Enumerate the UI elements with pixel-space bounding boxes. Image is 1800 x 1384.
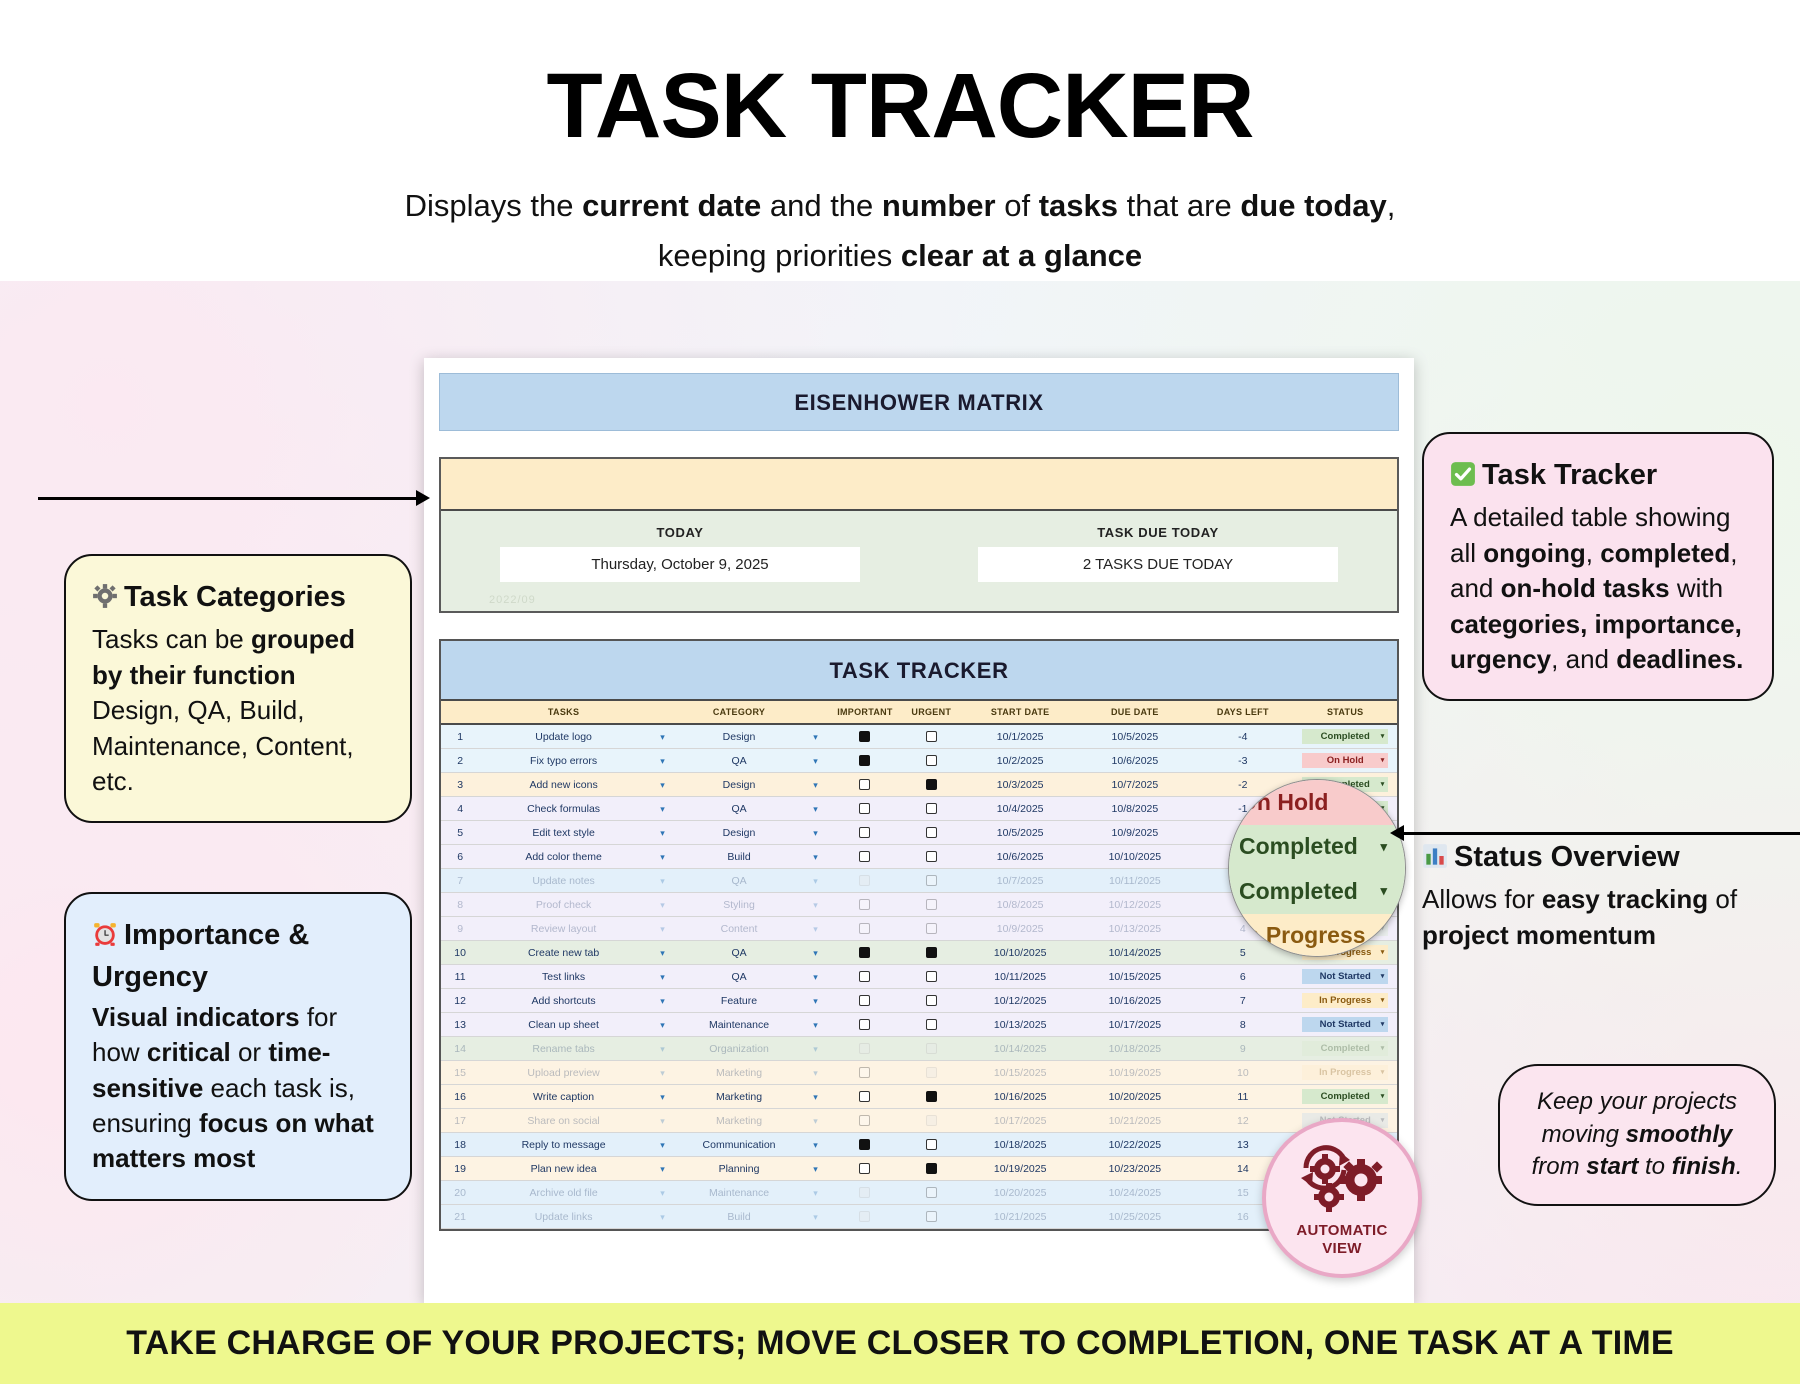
chevron-down-icon[interactable]: ▾: [648, 1205, 677, 1229]
cell-category[interactable]: Design: [677, 724, 801, 749]
cell-start-date[interactable]: 10/13/2025: [963, 1013, 1078, 1037]
chevron-down-icon[interactable]: ▾: [801, 1013, 830, 1037]
cell-status[interactable]: Completed▾: [1293, 1037, 1397, 1061]
cell-status[interactable]: In Progress▾: [1293, 1061, 1397, 1085]
cell-days-left[interactable]: 7: [1192, 989, 1293, 1013]
cell-index[interactable]: 8: [441, 893, 479, 917]
checkbox-off[interactable]: [859, 1019, 870, 1030]
cell-urgent[interactable]: [900, 773, 963, 797]
cell-category[interactable]: Marketing: [677, 1109, 801, 1133]
column-header-start-date[interactable]: START DATE: [963, 701, 1078, 724]
chevron-down-icon[interactable]: ▾: [801, 821, 830, 845]
cell-task[interactable]: Review layout: [479, 917, 648, 941]
chevron-down-icon[interactable]: ▾: [801, 989, 830, 1013]
cell-task[interactable]: Write caption: [479, 1085, 648, 1109]
cell-status[interactable]: In Progress▾: [1293, 989, 1397, 1013]
cell-important[interactable]: [830, 1133, 900, 1157]
cell-due-date[interactable]: 10/7/2025: [1078, 773, 1193, 797]
cell-index[interactable]: 14: [441, 1037, 479, 1061]
cell-due-date[interactable]: 10/10/2025: [1078, 845, 1193, 869]
status-badge[interactable]: Not Started▾: [1302, 1017, 1388, 1032]
cell-urgent[interactable]: [900, 1157, 963, 1181]
chevron-down-icon[interactable]: ▾: [648, 1085, 677, 1109]
checkbox-off[interactable]: [926, 899, 937, 910]
table-row[interactable]: 20Archive old file▾Maintenance▾10/20/202…: [441, 1181, 1397, 1205]
chevron-down-icon[interactable]: ▾: [648, 797, 677, 821]
cell-index[interactable]: 21: [441, 1205, 479, 1229]
cell-urgent[interactable]: [900, 989, 963, 1013]
cell-index[interactable]: 13: [441, 1013, 479, 1037]
checkbox-off[interactable]: [859, 995, 870, 1006]
cell-due-date[interactable]: 10/24/2025: [1078, 1181, 1193, 1205]
chevron-down-icon[interactable]: ▾: [801, 1037, 830, 1061]
table-row[interactable]: 21Update links▾Build▾10/21/202510/25/202…: [441, 1205, 1397, 1229]
cell-category[interactable]: Maintenance: [677, 1181, 801, 1205]
cell-start-date[interactable]: 10/15/2025: [963, 1061, 1078, 1085]
table-row[interactable]: 15Upload preview▾Marketing▾10/15/202510/…: [441, 1061, 1397, 1085]
checkbox-on[interactable]: [926, 779, 937, 790]
cell-category[interactable]: Feature: [677, 989, 801, 1013]
cell-urgent[interactable]: [900, 1133, 963, 1157]
table-row[interactable]: 1Update logo▾Design▾10/1/202510/5/2025-4…: [441, 724, 1397, 749]
cell-category[interactable]: QA: [677, 965, 801, 989]
cell-task[interactable]: Add new icons: [479, 773, 648, 797]
column-header-important[interactable]: IMPORTANT: [830, 701, 900, 724]
cell-start-date[interactable]: 10/14/2025: [963, 1037, 1078, 1061]
chevron-down-icon[interactable]: ▾: [801, 773, 830, 797]
checkbox-on[interactable]: [859, 1139, 870, 1150]
chevron-down-icon[interactable]: ▾: [801, 1133, 830, 1157]
cell-urgent[interactable]: [900, 917, 963, 941]
checkbox-off[interactable]: [926, 851, 937, 862]
cell-important[interactable]: [830, 1061, 900, 1085]
arrow-to-summary-line: [38, 497, 418, 500]
cell-start-date[interactable]: 10/18/2025: [963, 1133, 1078, 1157]
chevron-down-icon[interactable]: ▾: [648, 1013, 677, 1037]
cell-urgent[interactable]: [900, 1181, 963, 1205]
column-header-blank-4[interactable]: [801, 701, 830, 724]
chevron-down-icon: ▾: [1380, 794, 1387, 810]
summary-panel: TODAY Thursday, October 9, 2025 TASK DUE…: [439, 457, 1399, 613]
checkbox-off[interactable]: [926, 1187, 937, 1198]
cell-index[interactable]: 18: [441, 1133, 479, 1157]
chevron-down-icon[interactable]: ▾: [648, 965, 677, 989]
cell-due-date[interactable]: 10/11/2025: [1078, 869, 1193, 893]
chevron-down-icon[interactable]: ▾: [648, 1157, 677, 1181]
checkbox-off[interactable]: [926, 923, 937, 934]
checkbox-off[interactable]: [926, 755, 937, 766]
chevron-down-icon[interactable]: ▾: [1381, 732, 1385, 740]
cell-urgent[interactable]: [900, 941, 963, 965]
cell-index[interactable]: 7: [441, 869, 479, 893]
cell-start-date[interactable]: 10/7/2025: [963, 869, 1078, 893]
cell-important[interactable]: [830, 893, 900, 917]
cell-start-date[interactable]: 10/17/2025: [963, 1109, 1078, 1133]
column-header-due-date[interactable]: DUE DATE: [1078, 701, 1193, 724]
cell-status[interactable]: Not Started▾: [1293, 965, 1397, 989]
checkbox-ghost[interactable]: [859, 875, 870, 886]
cell-index[interactable]: 16: [441, 1085, 479, 1109]
status-badge[interactable]: In Progress▾: [1302, 1065, 1388, 1080]
cell-index[interactable]: 6: [441, 845, 479, 869]
checkbox-on[interactable]: [859, 731, 870, 742]
cell-index[interactable]: 1: [441, 724, 479, 749]
cell-urgent[interactable]: [900, 1013, 963, 1037]
cell-due-date[interactable]: 10/19/2025: [1078, 1061, 1193, 1085]
cell-category[interactable]: Design: [677, 821, 801, 845]
cell-task[interactable]: Check formulas: [479, 797, 648, 821]
checkbox-off[interactable]: [859, 1115, 870, 1126]
cell-task[interactable]: Clean up sheet: [479, 1013, 648, 1037]
chevron-down-icon[interactable]: ▾: [648, 1133, 677, 1157]
cell-start-date[interactable]: 10/19/2025: [963, 1157, 1078, 1181]
cell-category[interactable]: Planning: [677, 1157, 801, 1181]
chevron-down-icon[interactable]: ▾: [648, 1109, 677, 1133]
cell-important[interactable]: [830, 1037, 900, 1061]
cell-important[interactable]: [830, 941, 900, 965]
chevron-down-icon[interactable]: ▾: [801, 941, 830, 965]
cell-task[interactable]: Plan new idea: [479, 1157, 648, 1181]
chevron-down-icon[interactable]: ▾: [801, 845, 830, 869]
cell-days-left[interactable]: 10: [1192, 1061, 1293, 1085]
chevron-down-icon[interactable]: ▾: [801, 797, 830, 821]
cell-urgent[interactable]: [900, 1085, 963, 1109]
cell-category[interactable]: Maintenance: [677, 1013, 801, 1037]
cell-category[interactable]: Marketing: [677, 1061, 801, 1085]
checkbox-ghost[interactable]: [926, 1067, 937, 1078]
status-badge[interactable]: Completed▾: [1302, 729, 1388, 744]
table-row[interactable]: 2Fix typo errors▾QA▾10/2/202510/6/2025-3…: [441, 749, 1397, 773]
cell-due-date[interactable]: 10/12/2025: [1078, 893, 1193, 917]
column-header-blank-0[interactable]: [441, 701, 479, 724]
cell-index[interactable]: 10: [441, 941, 479, 965]
cell-due-date[interactable]: 10/15/2025: [1078, 965, 1193, 989]
cell-status[interactable]: Not Started▾: [1293, 1013, 1397, 1037]
checkbox-off[interactable]: [859, 923, 870, 934]
cell-task[interactable]: Archive old file: [479, 1181, 648, 1205]
chevron-down-icon[interactable]: ▾: [801, 1181, 830, 1205]
checkbox-off[interactable]: [926, 1211, 937, 1222]
cell-important[interactable]: [830, 1157, 900, 1181]
chevron-down-icon[interactable]: ▾: [648, 893, 677, 917]
table-row[interactable]: 16Write caption▾Marketing▾10/16/202510/2…: [441, 1085, 1397, 1109]
cell-important[interactable]: [830, 797, 900, 821]
chevron-down-icon[interactable]: ▾: [801, 893, 830, 917]
cell-important[interactable]: [830, 773, 900, 797]
column-header-category[interactable]: CATEGORY: [677, 701, 801, 724]
cell-index[interactable]: 2: [441, 749, 479, 773]
checkbox-ghost[interactable]: [859, 1043, 870, 1054]
chevron-down-icon[interactable]: ▾: [648, 1037, 677, 1061]
chevron-down-icon[interactable]: ▾: [648, 1181, 677, 1205]
cell-task[interactable]: Add shortcuts: [479, 989, 648, 1013]
cell-urgent[interactable]: [900, 724, 963, 749]
chevron-down-icon[interactable]: ▾: [1381, 1068, 1385, 1076]
chevron-down-icon[interactable]: ▾: [648, 917, 677, 941]
status-badge[interactable]: On Hold▾: [1302, 753, 1388, 768]
column-header-urgent[interactable]: URGENT: [900, 701, 963, 724]
table-row[interactable]: 19Plan new idea▾Planning▾10/19/202510/23…: [441, 1157, 1397, 1181]
cell-start-date[interactable]: 10/11/2025: [963, 965, 1078, 989]
eisenhower-matrix-banner: EISENHOWER MATRIX: [439, 373, 1399, 431]
cell-category[interactable]: Communication: [677, 1133, 801, 1157]
cell-urgent[interactable]: [900, 965, 963, 989]
cell-due-date[interactable]: 10/13/2025: [1078, 917, 1193, 941]
due-today-value: 2 TASKS DUE TODAY: [978, 547, 1338, 582]
cell-start-date[interactable]: 10/10/2025: [963, 941, 1078, 965]
checkbox-on[interactable]: [926, 1091, 937, 1102]
cell-index[interactable]: 19: [441, 1157, 479, 1181]
cell-index[interactable]: 17: [441, 1109, 479, 1133]
checkbox-off[interactable]: [926, 731, 937, 742]
checkbox-off[interactable]: [926, 827, 937, 838]
cell-category[interactable]: Content: [677, 917, 801, 941]
cell-task[interactable]: Proof check: [479, 893, 648, 917]
checkbox-off[interactable]: [859, 971, 870, 982]
checkbox-off[interactable]: [859, 827, 870, 838]
cell-category[interactable]: Marketing: [677, 1085, 801, 1109]
checkbox-off[interactable]: [859, 1067, 870, 1078]
cell-due-date[interactable]: 10/25/2025: [1078, 1205, 1193, 1229]
cell-index[interactable]: 20: [441, 1181, 479, 1205]
cell-category[interactable]: Build: [677, 1205, 801, 1229]
checkbox-ghost[interactable]: [926, 1115, 937, 1126]
checkbox-ghost[interactable]: [859, 1187, 870, 1198]
cell-urgent[interactable]: [900, 749, 963, 773]
checkbox-off[interactable]: [859, 1163, 870, 1174]
checkbox-off[interactable]: [926, 971, 937, 982]
chevron-down-icon[interactable]: ▾: [801, 1205, 830, 1229]
cell-due-date[interactable]: 10/23/2025: [1078, 1157, 1193, 1181]
cell-task[interactable]: Test links: [479, 965, 648, 989]
cell-index[interactable]: 12: [441, 989, 479, 1013]
cell-start-date[interactable]: 10/1/2025: [963, 724, 1078, 749]
status-badge[interactable]: Completed▾: [1302, 1041, 1388, 1056]
chevron-down-icon: ▾: [1380, 928, 1387, 944]
chevron-down-icon[interactable]: ▾: [801, 965, 830, 989]
cell-category[interactable]: QA: [677, 749, 801, 773]
cell-days-left[interactable]: 8: [1192, 1013, 1293, 1037]
chevron-down-icon[interactable]: ▾: [801, 1085, 830, 1109]
cell-urgent[interactable]: [900, 845, 963, 869]
cell-start-date[interactable]: 10/9/2025: [963, 917, 1078, 941]
page-title: TASK TRACKER: [0, 58, 1800, 155]
chevron-down-icon[interactable]: ▾: [801, 917, 830, 941]
cell-status[interactable]: Completed▾: [1293, 1085, 1397, 1109]
cell-days-left[interactable]: 6: [1192, 965, 1293, 989]
cell-urgent[interactable]: [900, 1061, 963, 1085]
cell-due-date[interactable]: 10/20/2025: [1078, 1085, 1193, 1109]
cell-category[interactable]: Design: [677, 773, 801, 797]
table-header-row: TASKSCATEGORYIMPORTANTURGENTSTART DATEDU…: [441, 701, 1397, 724]
cell-due-date[interactable]: 10/6/2025: [1078, 749, 1193, 773]
cell-important[interactable]: [830, 1085, 900, 1109]
chevron-down-icon[interactable]: ▾: [801, 1157, 830, 1181]
chevron-down-icon[interactable]: ▾: [648, 773, 677, 797]
cell-start-date[interactable]: 10/20/2025: [963, 1181, 1078, 1205]
chevron-down-icon[interactable]: ▾: [648, 845, 677, 869]
chevron-down-icon[interactable]: ▾: [801, 869, 830, 893]
chevron-down-icon[interactable]: ▾: [648, 1061, 677, 1085]
chevron-down-icon[interactable]: ▾: [801, 749, 830, 773]
chevron-down-icon[interactable]: ▾: [1381, 972, 1385, 980]
cell-start-date[interactable]: 10/16/2025: [963, 1085, 1078, 1109]
cell-category[interactable]: Build: [677, 845, 801, 869]
cell-task[interactable]: Share on social: [479, 1109, 648, 1133]
cell-index[interactable]: 15: [441, 1061, 479, 1085]
checkbox-off[interactable]: [859, 1091, 870, 1102]
cell-due-date[interactable]: 10/5/2025: [1078, 724, 1193, 749]
cell-due-date[interactable]: 10/17/2025: [1078, 1013, 1193, 1037]
cell-category[interactable]: Organization: [677, 1037, 801, 1061]
chevron-down-icon[interactable]: ▾: [1381, 1044, 1385, 1052]
cell-start-date[interactable]: 10/8/2025: [963, 893, 1078, 917]
callout-importance-urgency: Importance & Urgency Visual indicators f…: [64, 892, 412, 1201]
cell-category[interactable]: Styling: [677, 893, 801, 917]
chevron-down-icon: ▾: [1380, 839, 1387, 855]
cell-due-date[interactable]: 10/16/2025: [1078, 989, 1193, 1013]
column-header-blank-2[interactable]: [648, 701, 677, 724]
cell-urgent[interactable]: [900, 869, 963, 893]
cell-due-date[interactable]: 10/22/2025: [1078, 1133, 1193, 1157]
cell-task[interactable]: Update links: [479, 1205, 648, 1229]
cell-index[interactable]: 4: [441, 797, 479, 821]
cell-important[interactable]: [830, 965, 900, 989]
table-row[interactable]: 14Rename tabs▾Organization▾10/14/202510/…: [441, 1037, 1397, 1061]
cell-index[interactable]: 5: [441, 821, 479, 845]
checkbox-off[interactable]: [926, 803, 937, 814]
column-header-days-left[interactable]: DAYS LEFT: [1192, 701, 1293, 724]
cell-category[interactable]: QA: [677, 941, 801, 965]
column-header-tasks[interactable]: TASKS: [479, 701, 648, 724]
chevron-down-icon[interactable]: ▾: [648, 941, 677, 965]
checkbox-off[interactable]: [926, 1019, 937, 1030]
chevron-down-icon[interactable]: ▾: [648, 749, 677, 773]
cell-task[interactable]: Upload preview: [479, 1061, 648, 1085]
gears-refresh-icon: [1296, 1142, 1388, 1216]
checkbox-off[interactable]: [859, 779, 870, 790]
cell-days-left[interactable]: 9: [1192, 1037, 1293, 1061]
chevron-down-icon[interactable]: ▾: [648, 724, 677, 749]
cell-urgent[interactable]: [900, 797, 963, 821]
chevron-down-icon[interactable]: ▾: [648, 869, 677, 893]
table-row[interactable]: 18Reply to message▾Communication▾10/18/2…: [441, 1133, 1397, 1157]
status-badge[interactable]: In Progress▾: [1302, 993, 1388, 1008]
checkbox-off[interactable]: [859, 899, 870, 910]
checkbox-off[interactable]: [926, 1139, 937, 1150]
cell-important[interactable]: [830, 749, 900, 773]
chevron-down-icon[interactable]: ▾: [801, 1061, 830, 1085]
cell-index[interactable]: 11: [441, 965, 479, 989]
callout-categories-heading: Task Categories: [92, 578, 384, 620]
table-row[interactable]: 13Clean up sheet▾Maintenance▾10/13/20251…: [441, 1013, 1397, 1037]
cell-task[interactable]: Add color theme: [479, 845, 648, 869]
cell-due-date[interactable]: 10/8/2025: [1078, 797, 1193, 821]
cell-due-date[interactable]: 10/14/2025: [1078, 941, 1193, 965]
checkbox-off[interactable]: [859, 851, 870, 862]
cell-task[interactable]: Edit text style: [479, 821, 648, 845]
chevron-down-icon[interactable]: ▾: [1381, 1020, 1385, 1028]
table-row[interactable]: 11Test links▾QA▾10/11/202510/15/20256Not…: [441, 965, 1397, 989]
cell-due-date[interactable]: 10/18/2025: [1078, 1037, 1193, 1061]
cell-important[interactable]: [830, 1109, 900, 1133]
cell-start-date[interactable]: 10/2/2025: [963, 749, 1078, 773]
cell-due-date[interactable]: 10/21/2025: [1078, 1109, 1193, 1133]
cell-task[interactable]: Create new tab: [479, 941, 648, 965]
cell-task[interactable]: Rename tabs: [479, 1037, 648, 1061]
cell-start-date[interactable]: 10/4/2025: [963, 797, 1078, 821]
chevron-down-icon[interactable]: ▾: [648, 821, 677, 845]
chevron-down-icon[interactable]: ▾: [1381, 996, 1385, 1004]
cell-urgent[interactable]: [900, 1037, 963, 1061]
cell-important[interactable]: [830, 1013, 900, 1037]
cell-index[interactable]: 9: [441, 917, 479, 941]
cell-important[interactable]: [830, 917, 900, 941]
cell-urgent[interactable]: [900, 1205, 963, 1229]
checkbox-on[interactable]: [926, 947, 937, 958]
cell-start-date[interactable]: 10/5/2025: [963, 821, 1078, 845]
cell-important[interactable]: [830, 821, 900, 845]
cell-task[interactable]: Update logo: [479, 724, 648, 749]
cell-category[interactable]: QA: [677, 869, 801, 893]
checkbox-on[interactable]: [859, 755, 870, 766]
cell-important[interactable]: [830, 1205, 900, 1229]
column-header-status[interactable]: STATUS: [1293, 701, 1397, 724]
cell-task[interactable]: Reply to message: [479, 1133, 648, 1157]
checkbox-off[interactable]: [859, 803, 870, 814]
cell-start-date[interactable]: 10/21/2025: [963, 1205, 1078, 1229]
cell-important[interactable]: [830, 1181, 900, 1205]
checkbox-ghost[interactable]: [926, 1043, 937, 1054]
cell-task[interactable]: Fix typo errors: [479, 749, 648, 773]
cell-urgent[interactable]: [900, 821, 963, 845]
cell-important[interactable]: [830, 989, 900, 1013]
cell-index[interactable]: 3: [441, 773, 479, 797]
status-badge[interactable]: Not Started▾: [1302, 969, 1388, 984]
chevron-down-icon[interactable]: ▾: [801, 724, 830, 749]
checkbox-on[interactable]: [926, 1163, 937, 1174]
callout-status-heading: Status Overview: [1422, 838, 1774, 880]
cell-urgent[interactable]: [900, 1109, 963, 1133]
status-badge[interactable]: Completed▾: [1302, 1089, 1388, 1104]
checkbox-off[interactable]: [926, 875, 937, 886]
cell-urgent[interactable]: [900, 893, 963, 917]
chevron-down-icon[interactable]: ▾: [648, 989, 677, 1013]
cell-days-left[interactable]: -4: [1192, 724, 1293, 749]
cell-due-date[interactable]: 10/9/2025: [1078, 821, 1193, 845]
cell-start-date[interactable]: 10/6/2025: [963, 845, 1078, 869]
cell-start-date[interactable]: 10/12/2025: [963, 989, 1078, 1013]
cell-status[interactable]: Completed▾: [1293, 724, 1397, 749]
chevron-down-icon[interactable]: ▾: [801, 1109, 830, 1133]
cell-start-date[interactable]: 10/3/2025: [963, 773, 1078, 797]
checkbox-ghost[interactable]: [859, 1211, 870, 1222]
checkbox-on[interactable]: [859, 947, 870, 958]
chevron-down-icon[interactable]: ▾: [1381, 1092, 1385, 1100]
cell-category[interactable]: QA: [677, 797, 801, 821]
cell-important[interactable]: [830, 845, 900, 869]
table-row[interactable]: 17Share on social▾Marketing▾10/17/202510…: [441, 1109, 1397, 1133]
checkbox-off[interactable]: [926, 995, 937, 1006]
cell-days-left[interactable]: 11: [1192, 1085, 1293, 1109]
table-row[interactable]: 12Add shortcuts▾Feature▾10/12/202510/16/…: [441, 989, 1397, 1013]
cell-important[interactable]: [830, 869, 900, 893]
cell-status[interactable]: On Hold▾: [1293, 749, 1397, 773]
cell-task[interactable]: Update notes: [479, 869, 648, 893]
cell-days-left[interactable]: -3: [1192, 749, 1293, 773]
chevron-down-icon[interactable]: ▾: [1381, 756, 1385, 764]
cell-important[interactable]: [830, 724, 900, 749]
